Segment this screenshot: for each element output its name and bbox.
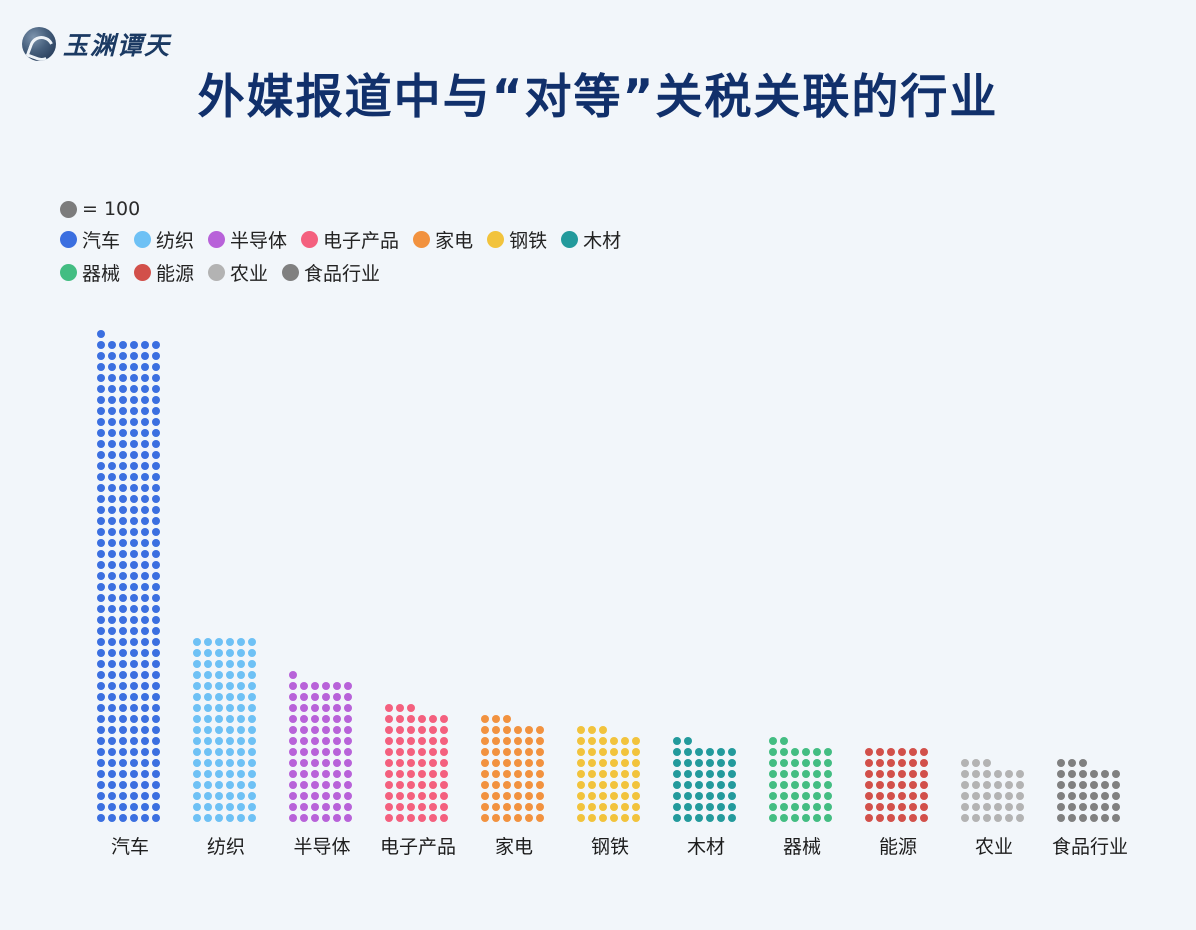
dot-row xyxy=(481,759,547,770)
data-dot xyxy=(824,803,832,811)
data-dot xyxy=(311,693,319,701)
data-dot xyxy=(503,781,511,789)
data-dot xyxy=(300,759,308,767)
dot-row xyxy=(97,561,163,572)
data-dot xyxy=(141,814,149,822)
data-dot xyxy=(204,781,212,789)
data-dot xyxy=(920,803,928,811)
data-dot xyxy=(152,594,160,602)
data-dot xyxy=(300,715,308,723)
dot-row xyxy=(577,737,643,748)
data-dot xyxy=(577,792,585,800)
data-dot xyxy=(385,726,393,734)
data-dot xyxy=(481,803,489,811)
data-dot xyxy=(237,759,245,767)
dot-row xyxy=(481,748,547,759)
data-dot xyxy=(141,429,149,437)
data-dot xyxy=(525,792,533,800)
data-dot xyxy=(108,770,116,778)
data-dot xyxy=(119,627,127,635)
data-dot xyxy=(237,682,245,690)
data-dot xyxy=(728,814,736,822)
data-dot xyxy=(204,682,212,690)
category-label-6: 木材 xyxy=(687,834,725,860)
dot-row xyxy=(1057,814,1123,825)
data-dot xyxy=(97,704,105,712)
data-dot xyxy=(577,748,585,756)
data-dot xyxy=(813,814,821,822)
legend-color-dot-icon xyxy=(134,264,151,281)
dot-row xyxy=(97,473,163,484)
data-dot xyxy=(514,748,522,756)
data-dot xyxy=(97,649,105,657)
dot-row xyxy=(1057,781,1123,792)
data-dot xyxy=(108,440,116,448)
data-dot xyxy=(632,792,640,800)
data-dot xyxy=(119,495,127,503)
data-dot xyxy=(503,759,511,767)
data-dot xyxy=(536,737,544,745)
data-dot xyxy=(972,781,980,789)
data-dot xyxy=(97,726,105,734)
data-dot xyxy=(407,726,415,734)
data-dot xyxy=(97,671,105,679)
data-dot xyxy=(311,814,319,822)
data-dot xyxy=(300,770,308,778)
data-dot xyxy=(204,792,212,800)
data-dot xyxy=(333,792,341,800)
data-dot xyxy=(684,748,692,756)
data-dot xyxy=(865,748,873,756)
data-dot xyxy=(599,759,607,767)
legend-color-dot-icon xyxy=(413,231,430,248)
dot-row xyxy=(289,715,355,726)
data-dot xyxy=(97,462,105,470)
data-dot xyxy=(193,803,201,811)
data-dot xyxy=(385,759,393,767)
data-dot xyxy=(802,770,810,778)
data-dot xyxy=(119,451,127,459)
data-dot xyxy=(204,726,212,734)
data-dot xyxy=(695,748,703,756)
data-dot xyxy=(119,649,127,657)
dot-stack xyxy=(385,704,451,825)
data-dot xyxy=(621,792,629,800)
data-dot xyxy=(429,737,437,745)
data-dot xyxy=(813,781,821,789)
legend-item-4[interactable]: 家电 xyxy=(413,226,473,253)
legend-color-dot-icon xyxy=(282,264,299,281)
data-dot xyxy=(97,770,105,778)
data-dot xyxy=(289,792,297,800)
data-dot xyxy=(588,803,596,811)
dot-row xyxy=(97,814,163,825)
data-dot xyxy=(152,473,160,481)
data-dot xyxy=(492,781,500,789)
data-dot xyxy=(119,803,127,811)
data-dot xyxy=(1068,770,1076,778)
legend-item-label: 能源 xyxy=(156,259,194,286)
data-dot xyxy=(481,726,489,734)
data-dot xyxy=(385,715,393,723)
data-dot xyxy=(108,396,116,404)
data-dot xyxy=(152,660,160,668)
data-dot xyxy=(440,792,448,800)
data-dot xyxy=(130,737,138,745)
data-dot xyxy=(898,803,906,811)
data-dot xyxy=(385,814,393,822)
data-dot xyxy=(972,770,980,778)
data-dot xyxy=(141,583,149,591)
brand-logo: 玉渊谭天 xyxy=(22,26,171,62)
data-dot xyxy=(97,528,105,536)
data-dot xyxy=(887,781,895,789)
data-dot xyxy=(152,704,160,712)
data-dot xyxy=(97,473,105,481)
data-dot xyxy=(673,737,681,745)
data-dot xyxy=(418,737,426,745)
data-dot xyxy=(610,814,618,822)
data-dot xyxy=(514,792,522,800)
data-dot xyxy=(824,759,832,767)
data-dot xyxy=(536,726,544,734)
data-dot xyxy=(385,737,393,745)
dot-row xyxy=(385,814,451,825)
data-dot xyxy=(152,781,160,789)
dot-row xyxy=(865,803,931,814)
data-dot xyxy=(130,660,138,668)
legend-item-1[interactable]: 纺织 xyxy=(134,226,194,253)
data-dot xyxy=(141,803,149,811)
data-dot xyxy=(695,792,703,800)
category-label-1: 纺织 xyxy=(207,834,245,860)
data-dot xyxy=(152,495,160,503)
data-dot xyxy=(97,792,105,800)
data-dot xyxy=(130,484,138,492)
data-dot xyxy=(152,385,160,393)
data-dot xyxy=(152,770,160,778)
data-dot xyxy=(344,715,352,723)
bar-column-10: 食品行业 xyxy=(1042,300,1138,860)
data-dot xyxy=(289,737,297,745)
data-dot xyxy=(130,407,138,415)
data-dot xyxy=(865,770,873,778)
data-dot xyxy=(141,649,149,657)
data-dot xyxy=(204,715,212,723)
data-dot xyxy=(599,781,607,789)
data-dot xyxy=(152,726,160,734)
dot-row xyxy=(769,781,835,792)
dot-row xyxy=(769,748,835,759)
data-dot xyxy=(322,770,330,778)
data-dot xyxy=(108,594,116,602)
data-dot xyxy=(152,418,160,426)
data-dot xyxy=(824,814,832,822)
data-dot xyxy=(119,781,127,789)
data-dot xyxy=(396,737,404,745)
data-dot xyxy=(289,682,297,690)
data-dot xyxy=(152,539,160,547)
data-dot xyxy=(492,715,500,723)
header: 玉渊谭天 外媒报道中与“对等”关税关联的行业 xyxy=(0,0,1196,150)
dot-chart: 汽车纺织半导体电子产品家电钢铁木材器械能源农业食品行业 xyxy=(0,300,1196,860)
legend-item-0[interactable]: 汽车 xyxy=(60,226,120,253)
data-dot xyxy=(130,726,138,734)
data-dot xyxy=(119,638,127,646)
dot-row xyxy=(961,759,1027,770)
data-dot xyxy=(108,803,116,811)
data-dot xyxy=(876,748,884,756)
data-dot xyxy=(204,649,212,657)
data-dot xyxy=(300,803,308,811)
data-dot xyxy=(204,748,212,756)
data-dot xyxy=(621,803,629,811)
data-dot xyxy=(108,737,116,745)
data-dot xyxy=(876,759,884,767)
data-dot xyxy=(322,715,330,723)
data-dot xyxy=(248,792,256,800)
data-dot xyxy=(141,418,149,426)
dot-row xyxy=(193,671,259,682)
data-dot xyxy=(418,759,426,767)
dot-row xyxy=(289,770,355,781)
dot-row xyxy=(577,770,643,781)
data-dot xyxy=(119,792,127,800)
data-dot xyxy=(994,770,1002,778)
data-dot xyxy=(97,572,105,580)
bar-column-8: 能源 xyxy=(850,300,946,860)
data-dot xyxy=(130,352,138,360)
dot-row xyxy=(481,715,547,726)
data-dot xyxy=(311,803,319,811)
data-dot xyxy=(152,792,160,800)
data-dot xyxy=(621,759,629,767)
data-dot xyxy=(429,781,437,789)
data-dot xyxy=(503,748,511,756)
dot-row xyxy=(193,792,259,803)
dot-row xyxy=(1057,792,1123,803)
data-dot xyxy=(525,803,533,811)
data-dot xyxy=(1090,792,1098,800)
data-dot xyxy=(152,803,160,811)
data-dot xyxy=(215,737,223,745)
data-dot xyxy=(1016,770,1024,778)
dot-row xyxy=(1057,759,1123,770)
legend-item-2[interactable]: 半导体 xyxy=(208,226,287,253)
data-dot xyxy=(141,616,149,624)
data-dot xyxy=(311,704,319,712)
data-dot xyxy=(130,770,138,778)
data-dot xyxy=(333,737,341,745)
legend-item-6[interactable]: 木材 xyxy=(561,226,621,253)
dot-row xyxy=(97,385,163,396)
data-dot xyxy=(728,792,736,800)
data-dot xyxy=(396,781,404,789)
data-dot xyxy=(407,759,415,767)
data-dot xyxy=(119,473,127,481)
data-dot xyxy=(717,748,725,756)
data-dot xyxy=(152,506,160,514)
data-dot xyxy=(525,770,533,778)
data-dot xyxy=(525,737,533,745)
data-dot xyxy=(130,572,138,580)
data-dot xyxy=(130,506,138,514)
data-dot xyxy=(97,682,105,690)
legend-item-10[interactable]: 食品行业 xyxy=(282,259,380,286)
data-dot xyxy=(429,803,437,811)
data-dot xyxy=(503,770,511,778)
data-dot xyxy=(141,528,149,536)
data-dot xyxy=(152,561,160,569)
data-dot xyxy=(130,715,138,723)
data-dot xyxy=(193,715,201,723)
data-dot xyxy=(429,748,437,756)
dot-row xyxy=(673,781,739,792)
data-dot xyxy=(130,583,138,591)
data-dot xyxy=(1057,759,1065,767)
data-dot xyxy=(396,715,404,723)
data-dot xyxy=(97,440,105,448)
data-dot xyxy=(141,484,149,492)
data-dot xyxy=(1068,781,1076,789)
data-dot xyxy=(824,792,832,800)
dot-row xyxy=(769,759,835,770)
data-dot xyxy=(385,803,393,811)
data-dot xyxy=(1005,781,1013,789)
data-dot xyxy=(514,759,522,767)
data-dot xyxy=(152,583,160,591)
data-dot xyxy=(333,803,341,811)
dot-row xyxy=(385,726,451,737)
data-dot xyxy=(141,660,149,668)
data-dot xyxy=(909,759,917,767)
data-dot xyxy=(429,814,437,822)
category-label-4: 家电 xyxy=(495,834,533,860)
data-dot xyxy=(418,748,426,756)
data-dot xyxy=(108,484,116,492)
dot-row xyxy=(577,781,643,792)
legend-item-7[interactable]: 器械 xyxy=(60,259,120,286)
legend-color-dot-icon xyxy=(208,264,225,281)
legend-item-8[interactable]: 能源 xyxy=(134,259,194,286)
data-dot xyxy=(248,748,256,756)
data-dot xyxy=(97,484,105,492)
data-dot xyxy=(97,616,105,624)
data-dot xyxy=(204,693,212,701)
data-dot xyxy=(418,814,426,822)
data-dot xyxy=(396,726,404,734)
legend-item-9[interactable]: 农业 xyxy=(208,259,268,286)
data-dot xyxy=(610,781,618,789)
data-dot xyxy=(780,770,788,778)
dot-row xyxy=(289,704,355,715)
data-dot xyxy=(876,792,884,800)
data-dot xyxy=(1090,803,1098,811)
data-dot xyxy=(599,726,607,734)
dot-row xyxy=(97,495,163,506)
dot-row xyxy=(97,704,163,715)
data-dot xyxy=(492,737,500,745)
data-dot xyxy=(141,440,149,448)
dot-row xyxy=(673,803,739,814)
data-dot xyxy=(289,803,297,811)
data-dot xyxy=(440,803,448,811)
dot-row xyxy=(97,484,163,495)
dot-row xyxy=(97,462,163,473)
data-dot xyxy=(97,748,105,756)
data-dot xyxy=(215,649,223,657)
data-dot xyxy=(215,704,223,712)
data-dot xyxy=(503,814,511,822)
dot-row xyxy=(97,374,163,385)
data-dot xyxy=(706,803,714,811)
data-dot xyxy=(215,792,223,800)
dot-row xyxy=(385,770,451,781)
data-dot xyxy=(525,748,533,756)
data-dot xyxy=(141,407,149,415)
dot-row xyxy=(577,803,643,814)
data-dot xyxy=(119,418,127,426)
dot-row xyxy=(97,682,163,693)
data-dot xyxy=(226,704,234,712)
bar-column-2: 半导体 xyxy=(274,300,370,860)
data-dot xyxy=(130,550,138,558)
dot-row xyxy=(961,770,1027,781)
data-dot xyxy=(440,814,448,822)
data-dot xyxy=(728,781,736,789)
data-dot xyxy=(311,682,319,690)
data-dot xyxy=(119,385,127,393)
data-dot xyxy=(333,814,341,822)
data-dot xyxy=(248,759,256,767)
dot-row xyxy=(577,726,643,737)
data-dot xyxy=(152,649,160,657)
data-dot xyxy=(344,693,352,701)
data-dot xyxy=(385,781,393,789)
data-dot xyxy=(396,792,404,800)
dot-row xyxy=(97,616,163,627)
data-dot xyxy=(141,682,149,690)
dot-row xyxy=(481,814,547,825)
data-dot xyxy=(108,550,116,558)
data-dot xyxy=(440,770,448,778)
data-dot xyxy=(226,803,234,811)
data-dot xyxy=(141,396,149,404)
data-dot xyxy=(193,792,201,800)
data-dot xyxy=(492,759,500,767)
data-dot xyxy=(119,572,127,580)
data-dot xyxy=(706,814,714,822)
data-dot xyxy=(141,715,149,723)
data-dot xyxy=(152,528,160,536)
data-dot xyxy=(344,748,352,756)
data-dot xyxy=(1090,770,1098,778)
legend-item-5[interactable]: 钢铁 xyxy=(487,226,547,253)
data-dot xyxy=(311,781,319,789)
dot-row xyxy=(97,407,163,418)
legend-color-dot-icon xyxy=(134,231,151,248)
data-dot xyxy=(1079,781,1087,789)
bar-column-1: 纺织 xyxy=(178,300,274,860)
data-dot xyxy=(333,715,341,723)
data-dot xyxy=(994,803,1002,811)
legend-item-3[interactable]: 电子产品 xyxy=(301,226,399,253)
category-label-3: 电子产品 xyxy=(380,834,456,860)
dot-row xyxy=(193,638,259,649)
data-dot xyxy=(418,803,426,811)
data-dot xyxy=(97,638,105,646)
bar-column-3: 电子产品 xyxy=(370,300,466,860)
